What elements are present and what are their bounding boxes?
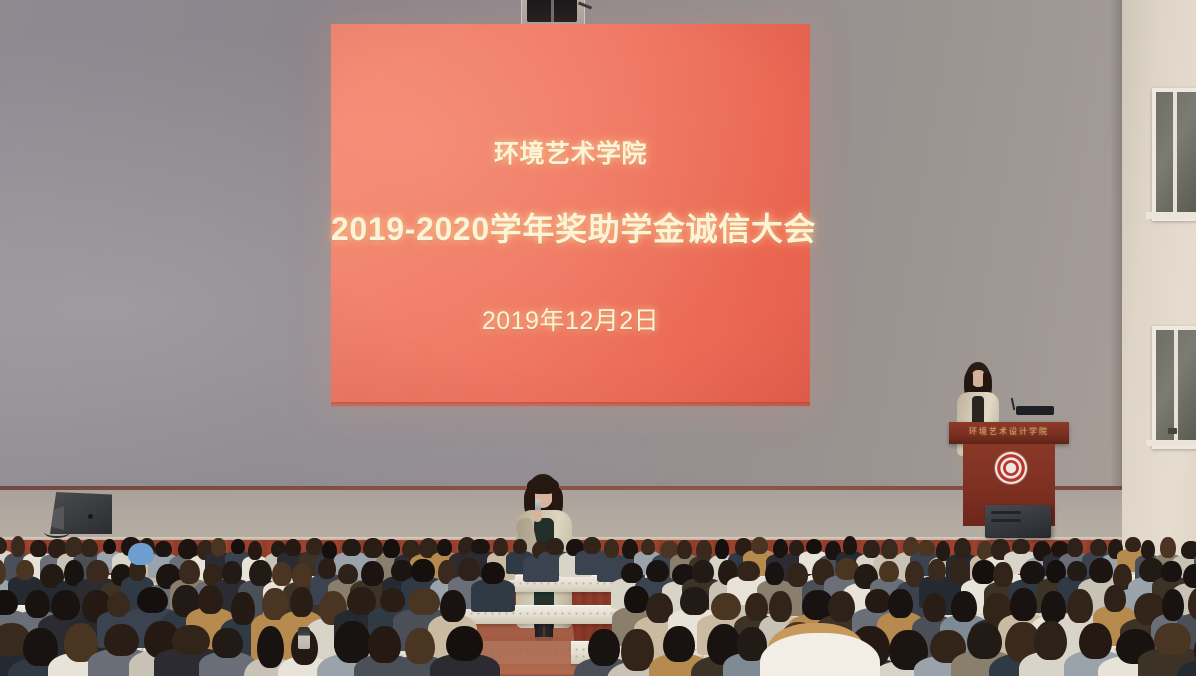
audience-member-head: [446, 626, 483, 661]
spiral-logo-icon: [995, 452, 1027, 484]
audience-member-head: [1067, 561, 1087, 581]
audience-member-head: [361, 561, 384, 585]
audience-member-head: [918, 540, 935, 556]
audience-member-head: [949, 559, 969, 584]
window-latch-icon: [1168, 428, 1177, 434]
audience-member-head: [405, 628, 435, 664]
audience-member-head: [285, 539, 301, 556]
audience-member-head: [338, 564, 359, 584]
audience-member-head: [583, 537, 600, 554]
audience-member-head: [1079, 623, 1112, 659]
audience-member-head: [1161, 561, 1181, 582]
seated-audience: [0, 505, 1196, 676]
audience-member-head: [471, 539, 490, 555]
audience-member-head: [318, 558, 336, 578]
audience-member-head: [604, 539, 619, 558]
audience-member-head: [408, 588, 440, 616]
audience-member-head: [172, 625, 210, 656]
auditorium-photo: 环境艺术学院 2019-2020学年奖助学金诚信大会 2019年12月2日 环境…: [0, 0, 1196, 676]
audience-member-head: [1010, 588, 1037, 622]
audience-member-head: [198, 585, 224, 615]
audience-member-head: [212, 628, 242, 659]
audience-member-head: [1012, 539, 1030, 554]
audience-member-head: [1034, 621, 1067, 660]
slide-organization-line: 环境艺术学院: [331, 134, 810, 170]
slide-date-line: 2019年12月2日: [331, 301, 810, 337]
audience-member-head: [272, 562, 292, 586]
audience-member-head: [1067, 589, 1093, 623]
audience-member-head: [481, 562, 504, 584]
upper-window-sill: [1146, 212, 1196, 219]
audience-member-head: [828, 591, 855, 622]
upper-right-window: [1152, 88, 1196, 221]
water-bottle: [298, 627, 310, 649]
audience-member-head: [1154, 623, 1191, 654]
projection-screen: 环境艺术学院 2019-2020学年奖助学金诚信大会 2019年12月2日: [331, 24, 810, 406]
audience-member-head: [231, 592, 255, 626]
audience-member-head: [1141, 540, 1155, 558]
audience-member-head: [383, 539, 399, 558]
audience-member-head: [222, 561, 242, 584]
audience-member-head: [737, 561, 760, 580]
audience-member-head: [680, 587, 708, 614]
audience-member-head: [863, 540, 879, 558]
audience-member-head: [641, 539, 655, 555]
screen-bottom-edge: [331, 402, 810, 407]
audience-member-head: [1090, 539, 1107, 556]
podium-banner-text: 环境艺术设计学院: [949, 426, 1069, 437]
slide-title-line: 2019-2020学年奖助学金诚信大会: [331, 204, 810, 250]
audience-member-head: [103, 539, 117, 554]
audience-member-head: [458, 558, 480, 580]
audience-member-blue-cap: [128, 543, 154, 565]
audience-member-head: [86, 560, 109, 584]
audience-member-head: [380, 588, 405, 612]
audience-member-head: [440, 590, 466, 623]
audience-member-head: [1104, 585, 1127, 612]
audience-member-head: [1160, 537, 1176, 558]
audience-member-head: [696, 540, 712, 561]
podium-top-banner: 环境艺术设计学院: [949, 422, 1069, 444]
audience-member-head: [806, 539, 822, 554]
audience-member-head: [951, 591, 977, 622]
audience-member-head: [928, 559, 946, 580]
audience-member-head: [306, 538, 322, 555]
audience-member-head: [711, 593, 741, 620]
podium-microphone: [1016, 406, 1054, 415]
audience-member-head: [692, 560, 714, 583]
audience-member-head: [211, 538, 226, 555]
audience-member-head: [137, 587, 168, 614]
audience-member-head: [342, 539, 360, 557]
audience-member-head: [769, 591, 792, 622]
audience-member-head: [411, 559, 435, 582]
audience-member-head: [954, 538, 971, 559]
audience-member-head: [81, 539, 99, 557]
audience-member-head: [513, 539, 527, 555]
audience-member-head: [843, 536, 858, 554]
audience-member-head: [1125, 537, 1142, 552]
audience-member-head: [155, 541, 171, 557]
audience-member-head: [231, 539, 245, 554]
audience-member-head: [663, 626, 695, 662]
audience-member-head: [25, 590, 50, 618]
audience-member-head: [1183, 564, 1196, 588]
audience-member-head: [1181, 541, 1196, 559]
audience-member-head: [11, 536, 26, 557]
projector-lens-divider: [551, 0, 554, 22]
audience-member-head: [16, 560, 34, 579]
window-mullion: [1173, 92, 1177, 217]
audience-member-head: [51, 590, 80, 620]
audience-member-head: [1089, 558, 1114, 583]
audience-member-head: [765, 562, 784, 585]
audience-member-head: [104, 624, 140, 656]
audience-member-head: [888, 589, 913, 619]
audience-member-head: [923, 593, 947, 623]
audience-member-head: [179, 560, 200, 584]
audience-member-head: [588, 629, 620, 666]
audience-member-head: [677, 540, 692, 559]
audience-member-head: [290, 587, 313, 618]
audience-member-head: [368, 626, 401, 663]
audience-member-head: [437, 539, 452, 556]
audience-member-head: [248, 541, 262, 560]
audience-member-head: [257, 626, 285, 668]
lower-window-sill: [1146, 440, 1196, 446]
audience-member-head: [751, 537, 768, 554]
audience-member-head: [646, 560, 670, 582]
audience-member-torso: [471, 579, 516, 612]
audience-member-head: [715, 539, 729, 559]
audience-member-head: [546, 538, 564, 555]
audience-member-head: [1067, 538, 1084, 557]
audience-member-head: [972, 560, 996, 584]
audience-member-head: [493, 538, 508, 557]
audience-member-head: [967, 623, 1002, 659]
audience-member-head: [292, 563, 312, 587]
audience-member-head: [879, 561, 899, 582]
audience-member-head: [30, 540, 47, 556]
